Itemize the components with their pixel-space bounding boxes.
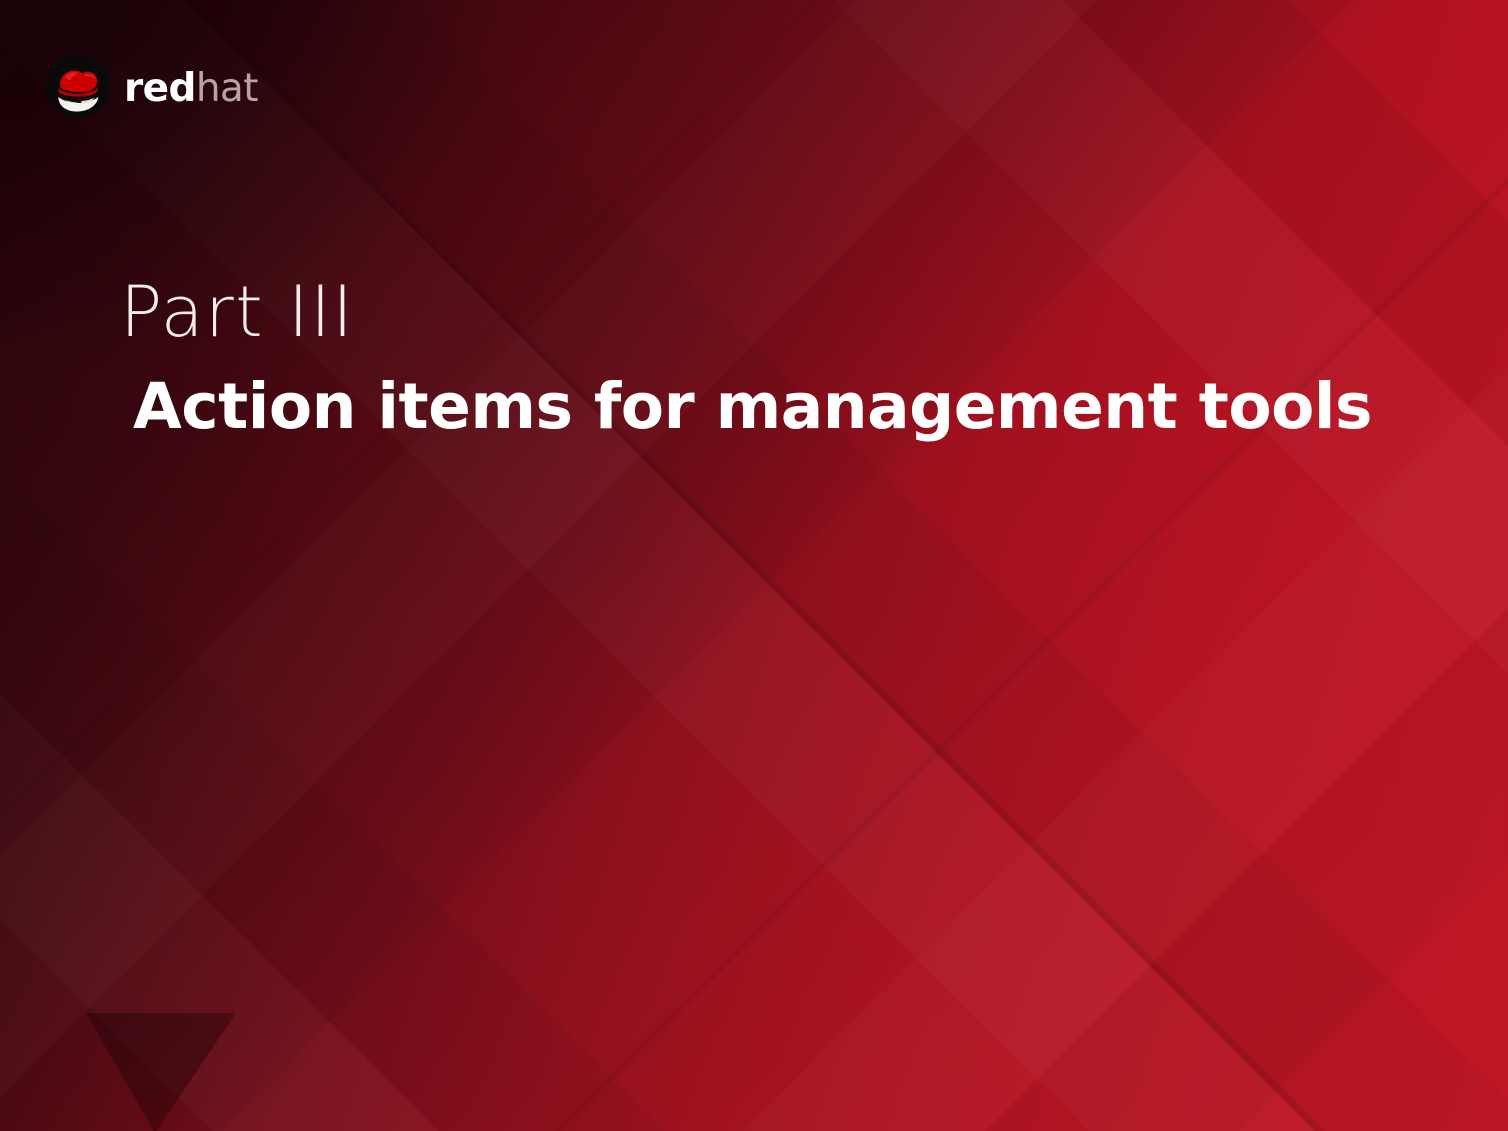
- slide-background-base: [0, 0, 1508, 1131]
- redhat-logo: redhat: [44, 52, 258, 120]
- slide-background-facets-b: [0, 0, 1508, 1131]
- wordmark-red: red: [124, 66, 196, 111]
- slide-part-label: Part III: [120, 277, 354, 347]
- slide-background-facets-a: [0, 0, 1508, 1131]
- presentation-slide: redhat Part III Action items for managem…: [0, 0, 1508, 1131]
- slide-title: Action items for management tools: [133, 375, 1372, 438]
- redhat-wordmark: redhat: [124, 69, 258, 108]
- wordmark-hat: hat: [196, 66, 258, 111]
- slide-background-corner-shade: [0, 0, 1508, 1131]
- slide-background-notch: [86, 1013, 236, 1131]
- slide-background-bright-wedge: [0, 0, 1508, 1131]
- slide-background-seams: [0, 0, 1508, 1131]
- slide-background-dark-wedge: [0, 0, 1508, 1131]
- redhat-shadowman-icon: [44, 52, 112, 120]
